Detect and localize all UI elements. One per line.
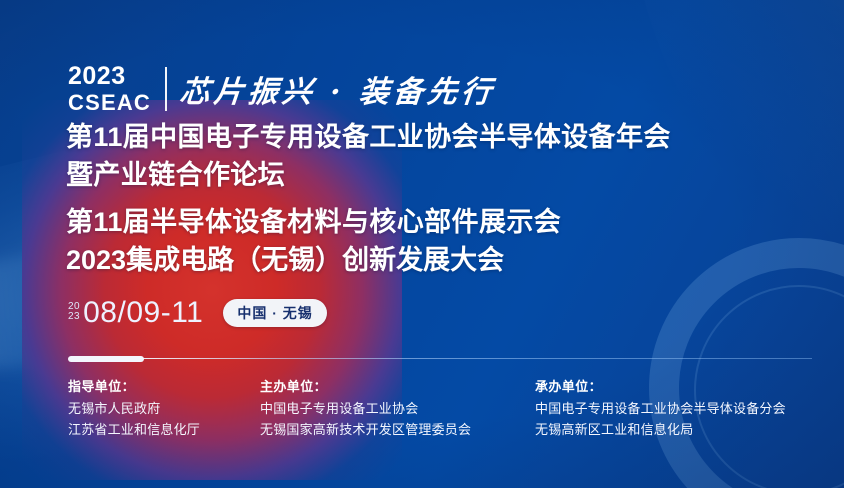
event-logo: 2023 CSEAC 芯片振兴 · 装备先行 (68, 62, 495, 116)
headline-group-spacer (66, 194, 671, 203)
event-city-badge: 中国 · 无锡 (223, 299, 326, 327)
organizer-entry: 江苏省工业和信息化厅 (68, 419, 260, 440)
logo-slogan: 芯片振兴 · 装备先行 (178, 67, 497, 111)
organizer-entry: 中国电子专用设备工业协会 (260, 398, 535, 419)
organizer-column-host: 主办单位： 中国电子专用设备工业协会 无锡国家高新技术开发区管理委员会 (260, 376, 535, 440)
event-date: 20 23 08/09-11 (68, 296, 203, 330)
organizer-entry: 无锡市人民政府 (68, 398, 260, 419)
organizer-column-title: 指导单位： (68, 376, 260, 398)
event-year-bottom: 23 (68, 312, 80, 322)
poster-content: 2023 CSEAC 芯片振兴 · 装备先行 第11届中国电子专用设备工业协会半… (0, 0, 844, 488)
headline-line-4: 2023集成电路（无锡）创新发展大会 (66, 241, 671, 279)
divider-accent-bar (68, 356, 144, 362)
conference-poster: 2023 CSEAC 芯片振兴 · 装备先行 第11届中国电子专用设备工业协会半… (0, 0, 844, 488)
divider-hairline (140, 358, 812, 359)
event-year-top: 20 (68, 302, 80, 312)
headline-line-1: 第11届中国电子专用设备工业协会半导体设备年会 (66, 118, 671, 156)
logo-acronym: CSEAC (68, 92, 151, 114)
date-location-row: 20 23 08/09-11 中国 · 无锡 (68, 296, 327, 330)
organizer-section: 指导单位： 无锡市人民政府 江苏省工业和信息化厅 主办单位： 中国电子专用设备工… (68, 376, 814, 440)
organizer-column-title: 主办单位： (260, 376, 535, 398)
organizer-column-guidance: 指导单位： 无锡市人民政府 江苏省工业和信息化厅 (68, 376, 260, 440)
organizer-column-title: 承办单位： (535, 376, 814, 398)
logo-vertical-divider (165, 67, 167, 111)
headline-line-2: 暨产业链合作论坛 (66, 156, 671, 194)
logo-year: 2023 (68, 64, 151, 89)
event-date-range: 08/09-11 (83, 296, 203, 330)
organizer-entry: 无锡国家高新技术开发区管理委员会 (260, 419, 535, 440)
section-divider (68, 356, 812, 362)
logo-mark: 2023 CSEAC (68, 64, 151, 114)
headline-line-3: 第11届半导体设备材料与核心部件展示会 (66, 203, 671, 241)
event-year: 20 23 (68, 302, 80, 325)
organizer-entry: 中国电子专用设备工业协会半导体设备分会 (535, 398, 814, 419)
poster-headline: 第11届中国电子专用设备工业协会半导体设备年会 暨产业链合作论坛 第11届半导体… (66, 118, 671, 279)
organizer-column-undertaker: 承办单位： 中国电子专用设备工业协会半导体设备分会 无锡高新区工业和信息化局 (535, 376, 814, 440)
organizer-entry: 无锡高新区工业和信息化局 (535, 419, 814, 440)
